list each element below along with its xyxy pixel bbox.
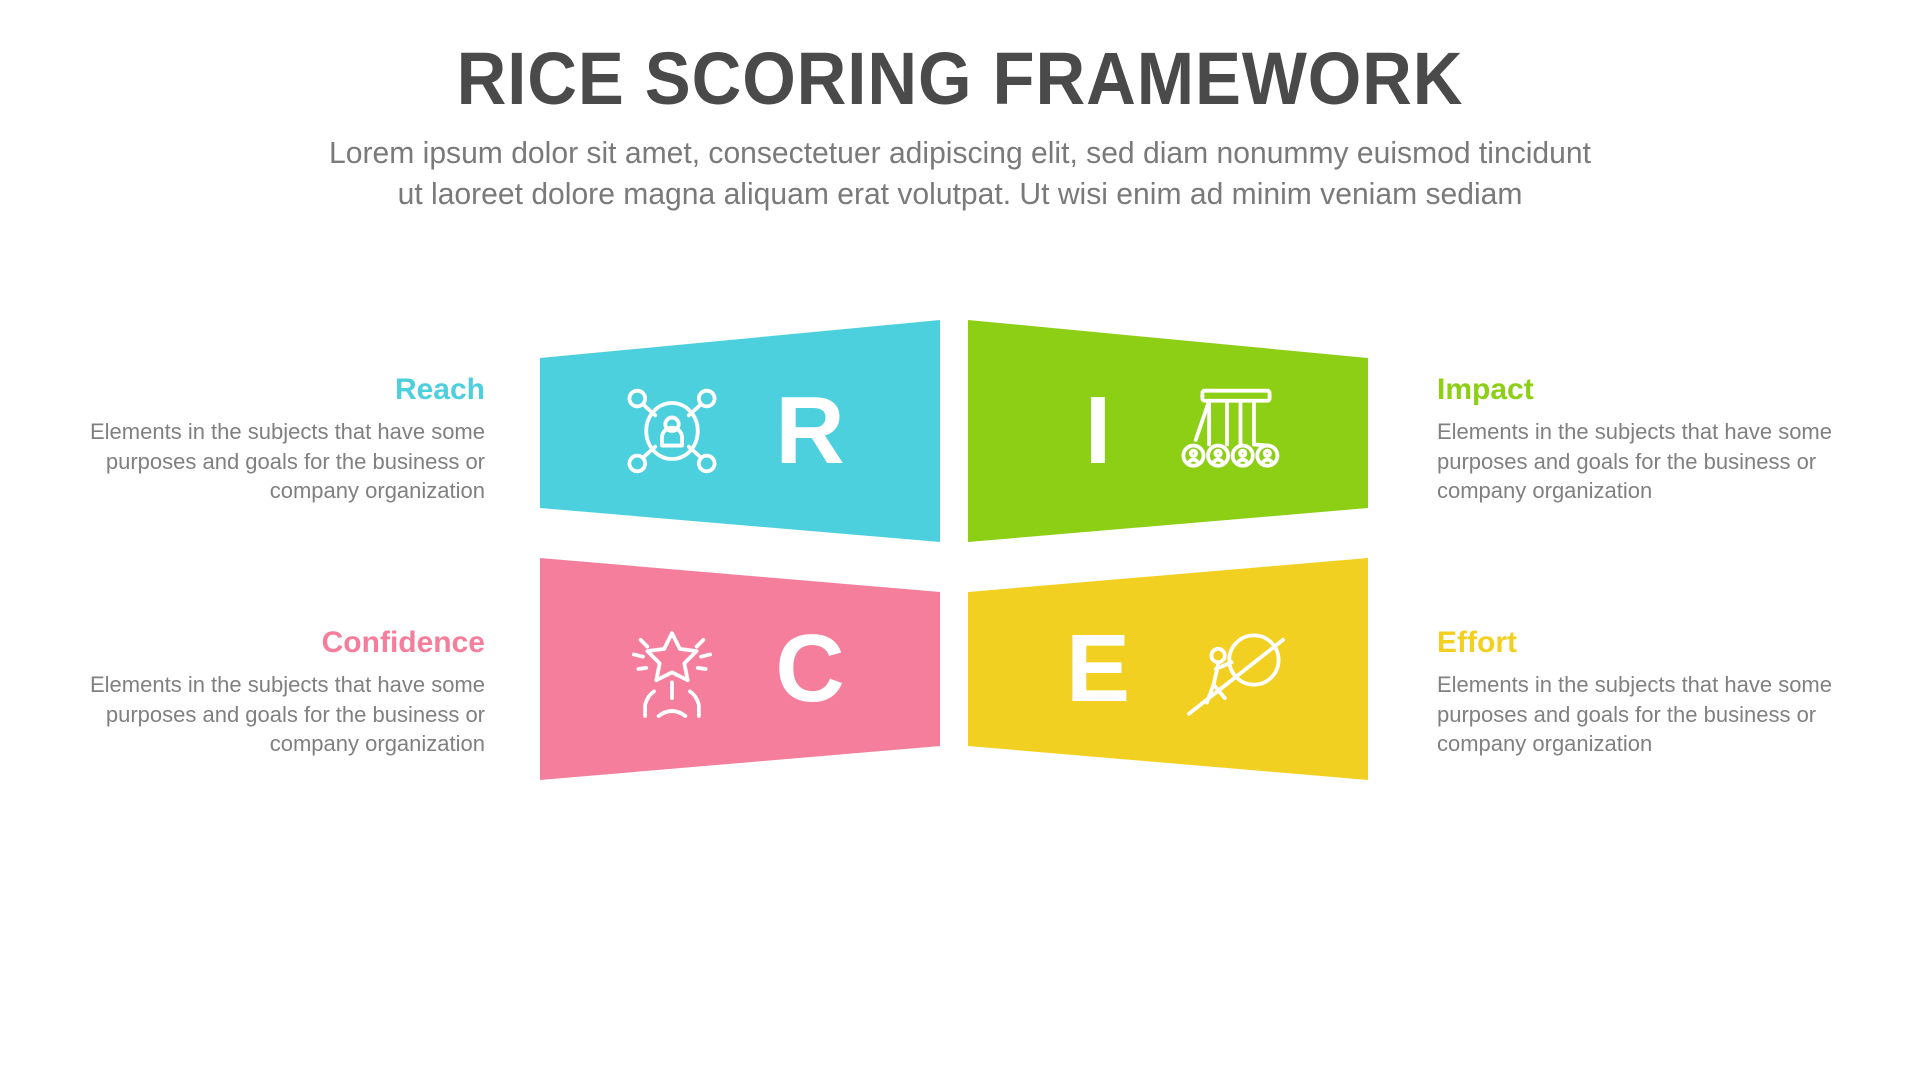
text-block-confidence: Confidence Elements in the subjects that…: [85, 628, 485, 759]
segment-content-reach: R: [540, 320, 940, 542]
hand-star-icon: [616, 613, 728, 725]
segment-letter-effort: E: [1050, 621, 1146, 717]
segment-title-confidence: Confidence: [85, 628, 485, 658]
segment-title-impact: Impact: [1437, 375, 1837, 405]
segment-letter-reach: R: [762, 383, 858, 479]
segment-description-confidence: Elements in the subjects that have some …: [85, 670, 485, 759]
text-block-impact: Impact Elements in the subjects that hav…: [1437, 375, 1837, 506]
infographic-page: RICE SCORING FRAMEWORK Lorem ipsum dolor…: [0, 0, 1920, 1080]
segment-title-effort: Effort: [1437, 628, 1837, 658]
page-title: RICE SCORING FRAMEWORK: [67, 40, 1853, 118]
segment-description-reach: Elements in the subjects that have some …: [85, 417, 485, 506]
segment-shape-effort[interactable]: E: [968, 558, 1368, 780]
person-pushing-boulder-icon: [1180, 613, 1292, 725]
segment-shape-reach[interactable]: R: [540, 320, 940, 542]
segment-shape-confidence[interactable]: C: [540, 558, 940, 780]
newtons-cradle-icon: [1180, 375, 1292, 487]
segment-description-impact: Elements in the subjects that have some …: [1437, 417, 1837, 506]
text-block-effort: Effort Elements in the subjects that hav…: [1437, 628, 1837, 759]
network-user-icon: [616, 375, 728, 487]
segment-shape-impact[interactable]: I: [968, 320, 1368, 542]
segment-content-confidence: C: [540, 558, 940, 780]
subtitle-line-1: Lorem ipsum dolor sit amet, consectetuer…: [155, 132, 1765, 173]
segment-content-impact: I: [968, 320, 1368, 542]
page-subtitle: Lorem ipsum dolor sit amet, consectetuer…: [155, 132, 1765, 214]
segment-letter-confidence: C: [762, 621, 858, 717]
shape-cluster: R I: [540, 320, 1380, 780]
segment-description-effort: Elements in the subjects that have some …: [1437, 670, 1837, 759]
subtitle-line-2: ut laoreet dolore magna aliquam erat vol…: [155, 173, 1765, 214]
segment-content-effort: E: [968, 558, 1368, 780]
segment-letter-impact: I: [1050, 383, 1146, 479]
segment-title-reach: Reach: [85, 375, 485, 405]
text-block-reach: Reach Elements in the subjects that have…: [85, 375, 485, 506]
header: RICE SCORING FRAMEWORK Lorem ipsum dolor…: [0, 40, 1920, 214]
rice-diagram: Reach Elements in the subjects that have…: [0, 320, 1920, 780]
